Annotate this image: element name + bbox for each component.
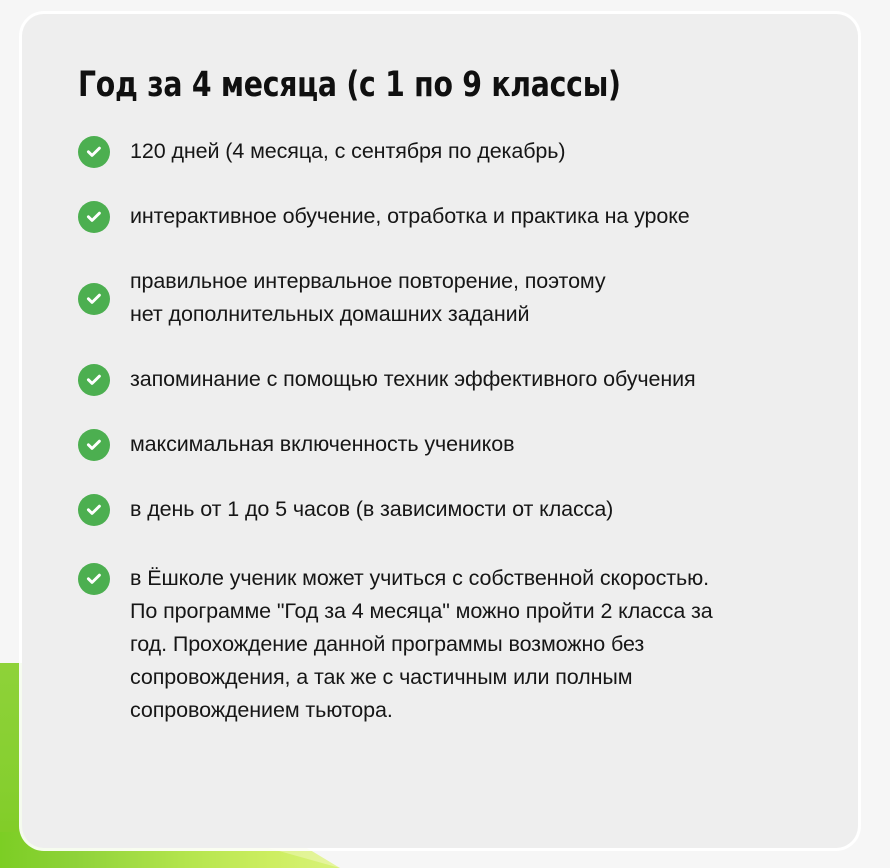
feature-check-list: 120 дней (4 месяца, с сентября по декабр…: [78, 135, 802, 727]
list-item: в день от 1 до 5 часов (в зависимости от…: [78, 493, 802, 526]
check-circle-icon: [78, 494, 110, 526]
list-item-label: 120 дней (4 месяца, с сентября по декабр…: [130, 135, 565, 168]
list-item-label: запоминание с помощью техник эффективног…: [130, 363, 696, 396]
check-circle-icon: [78, 563, 110, 595]
list-item: интерактивное обучение, отработка и прак…: [78, 200, 802, 233]
list-item-label: интерактивное обучение, отработка и прак…: [130, 200, 690, 233]
list-item: правильное интервальное повторение, поэт…: [78, 265, 802, 331]
list-item-label: в день от 1 до 5 часов (в зависимости от…: [130, 493, 613, 526]
list-item: в Ёшколе ученик может учиться с собствен…: [78, 562, 802, 727]
list-item: 120 дней (4 месяца, с сентября по декабр…: [78, 135, 802, 168]
page-title: Год за 4 месяца (с 1 по 9 классы): [78, 66, 730, 105]
check-circle-icon: [78, 429, 110, 461]
list-item: максимальная включенность учеников: [78, 428, 802, 461]
page-root: Год за 4 месяца (с 1 по 9 классы) 120 дн…: [0, 0, 890, 868]
list-item-label: в Ёшколе ученик может учиться с собствен…: [130, 562, 713, 727]
list-item-label: максимальная включенность учеников: [130, 428, 514, 461]
check-circle-icon: [78, 283, 110, 315]
check-circle-icon: [78, 364, 110, 396]
list-item-label: правильное интервальное повторение, поэт…: [130, 265, 606, 331]
info-card: Год за 4 месяца (с 1 по 9 классы) 120 дн…: [22, 14, 858, 848]
check-circle-icon: [78, 136, 110, 168]
list-item: запоминание с помощью техник эффективног…: [78, 363, 802, 396]
check-circle-icon: [78, 201, 110, 233]
